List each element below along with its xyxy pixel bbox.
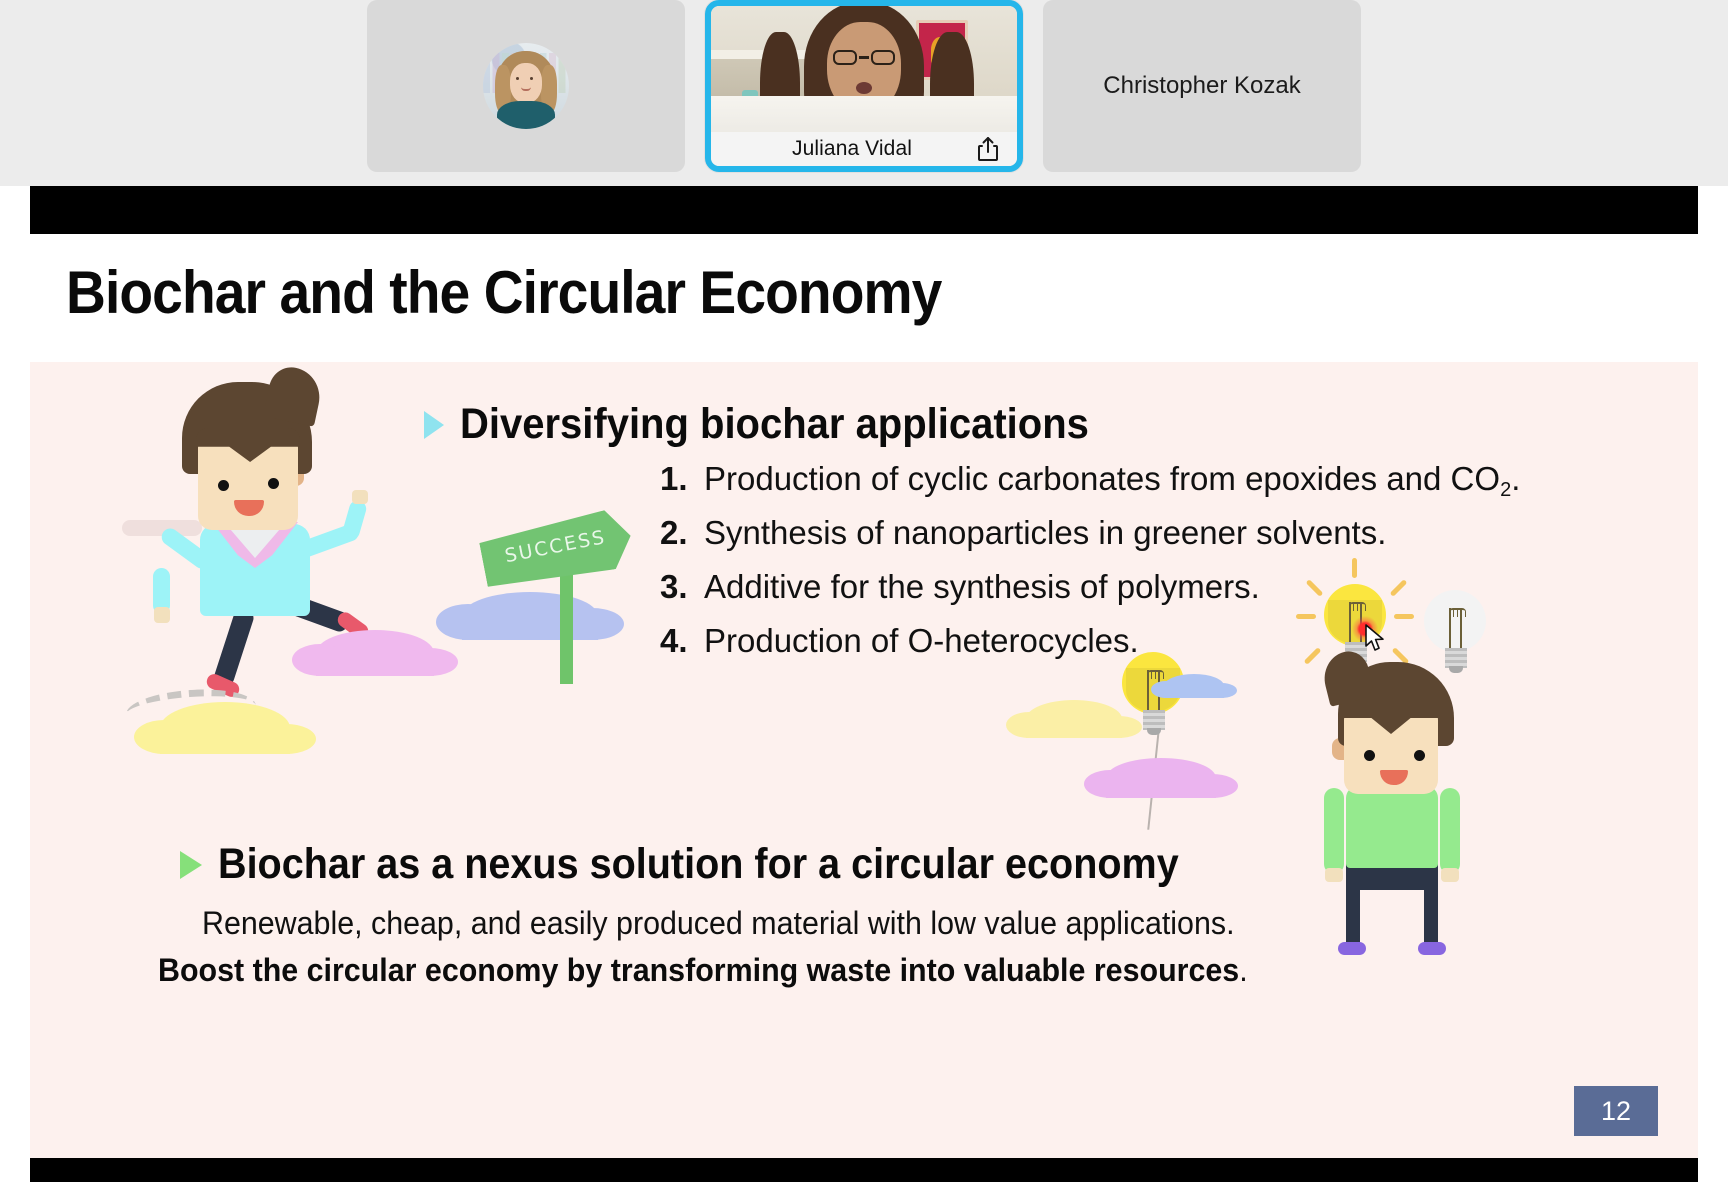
slide-top-band [30,186,1698,234]
list-item: 2. Synthesis of nanoparticles in greener… [660,514,1520,552]
list-item: 4. Production of O-heterocycles. [660,622,1520,660]
list-item: 3. Additive for the synthesis of polymer… [660,568,1520,606]
triangle-right-icon [180,851,202,879]
section2-line-2: Boost the circular economy by transformi… [158,952,1248,989]
slide-canvas: SUCCESS Diversifying biochar application… [30,362,1698,1158]
numbered-list: 1. Production of cyclic carbonates from … [660,460,1520,676]
section2-line-1: Renewable, cheap, and easily produced ma… [202,905,1235,942]
list-item: 1. Production of cyclic carbonates from … [660,460,1520,498]
standing-character-illustration [1310,658,1510,968]
glasses-icon [833,50,895,66]
triangle-right-icon [424,411,444,439]
section-heading-2: Biochar as a nexus solution for a circul… [180,840,1262,889]
mouse-cursor [1364,624,1386,659]
list-item-number: 2. [660,514,694,552]
list-item-number: 3. [660,568,694,606]
stage-margin-right [1698,186,1728,1182]
name-bar: Juliana Vidal [711,132,1017,166]
success-signpost: SUCCESS [482,498,662,698]
participant-tile-active-speaker[interactable]: Juliana Vidal [705,0,1023,172]
presentation-stage: Biochar and the Circular Economy [0,186,1728,1182]
slide-title: Biochar and the Circular Economy [66,258,1354,327]
list-item-number: 1. [660,460,694,498]
list-item-text: Production of O-heterocycles. [704,622,1139,660]
slide-bottom-band [30,1158,1698,1182]
slide-page-number: 12 [1574,1086,1658,1136]
stage-margin-left [0,186,30,1182]
cloud-pink [316,630,434,676]
cloud-small-yellow [1026,700,1122,738]
participant-name: Juliana Vidal [711,137,971,161]
participant-name: Christopher Kozak [1043,0,1361,172]
cloud-lilac [1106,758,1216,798]
cloud-small-blue [1164,674,1224,698]
share-icon[interactable] [971,136,1005,162]
participant-tile-name-only[interactable]: Christopher Kozak [1043,0,1361,172]
slide[interactable]: Biochar and the Circular Economy [30,186,1698,1182]
participant-filmstrip: Juliana Vidal Christopher Kozak [0,0,1728,186]
section-heading-1: Diversifying biochar applications [424,400,1136,449]
jumping-character-illustration [140,372,440,732]
list-item-text: Synthesis of nanoparticles in greener so… [704,514,1386,552]
participant-tile-avatar[interactable] [367,0,685,172]
list-item-text: Production of cyclic carbonates from epo… [704,460,1520,498]
list-item-text: Additive for the synthesis of polymers. [704,568,1260,606]
avatar [483,43,569,129]
cloud-yellow [160,702,290,754]
list-item-number: 4. [660,622,694,660]
